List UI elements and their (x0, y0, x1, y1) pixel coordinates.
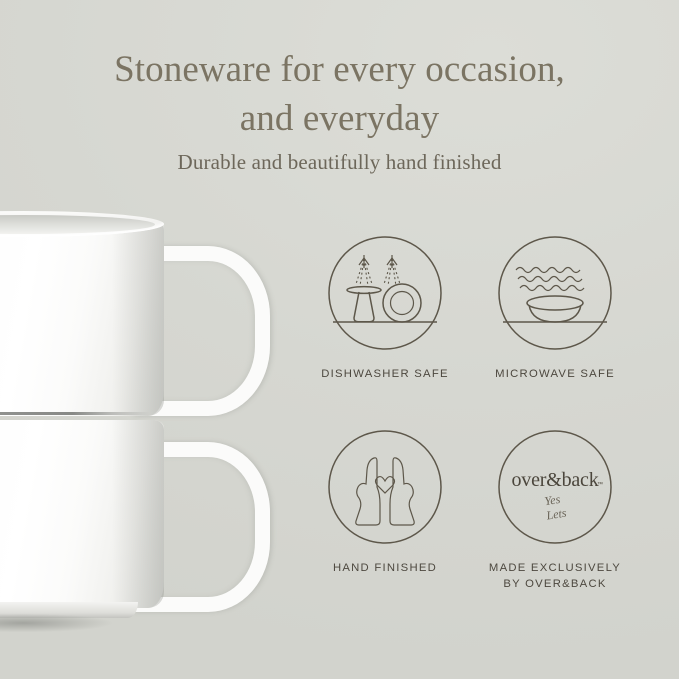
dishwasher-safe-icon (326, 234, 444, 352)
badge-row-2: HAND FINISHED over&back ™ Yes Lets MADE … (300, 428, 640, 592)
badge-dishwasher-safe: DISHWASHER SAFE (300, 234, 470, 382)
microwave-safe-icon (496, 234, 614, 352)
badge-made-exclusively-label: MADE EXCLUSIVELY BY OVER&BACK (489, 560, 621, 592)
badge-dishwasher-safe-label: DISHWASHER SAFE (321, 366, 449, 382)
over-and-back-logo-icon: over&back ™ Yes Lets (496, 428, 614, 546)
brand-wordmark: over&back (511, 469, 598, 491)
brand-tagline-line2: Lets (544, 506, 567, 523)
badge-row-spacer (300, 382, 640, 428)
badge-hand-finished-label: HAND FINISHED (333, 560, 437, 576)
feature-badge-grid: DISHWASHER SAFE MICROWAVE SAFE (300, 234, 640, 592)
badge-hand-finished: HAND FINISHED (300, 428, 470, 592)
badge-row-1: DISHWASHER SAFE MICROWAVE SAFE (300, 234, 640, 382)
badge-microwave-safe-label: MICROWAVE SAFE (495, 366, 615, 382)
mug-bottom-shade-right (112, 420, 164, 608)
product-marketing-image: Stoneware for every occasion, and everyd… (0, 0, 679, 679)
mug-bottom-body (0, 420, 164, 608)
page-title: Stoneware for every occasion, and everyd… (0, 46, 679, 144)
brand-trademark-icon: ™ (597, 481, 603, 488)
mug-top-base-seam (0, 412, 150, 415)
page-subtitle: Durable and beautifully hand finished (0, 150, 679, 175)
product-photo (0, 212, 302, 662)
mug-top-body (0, 220, 164, 416)
badge-microwave-safe: MICROWAVE SAFE (470, 234, 640, 382)
mug-top-shade-right (112, 220, 164, 416)
hand-finished-icon (326, 428, 444, 546)
badge-made-exclusively: over&back ™ Yes Lets MADE EXCLUSIVELY BY… (470, 428, 640, 592)
